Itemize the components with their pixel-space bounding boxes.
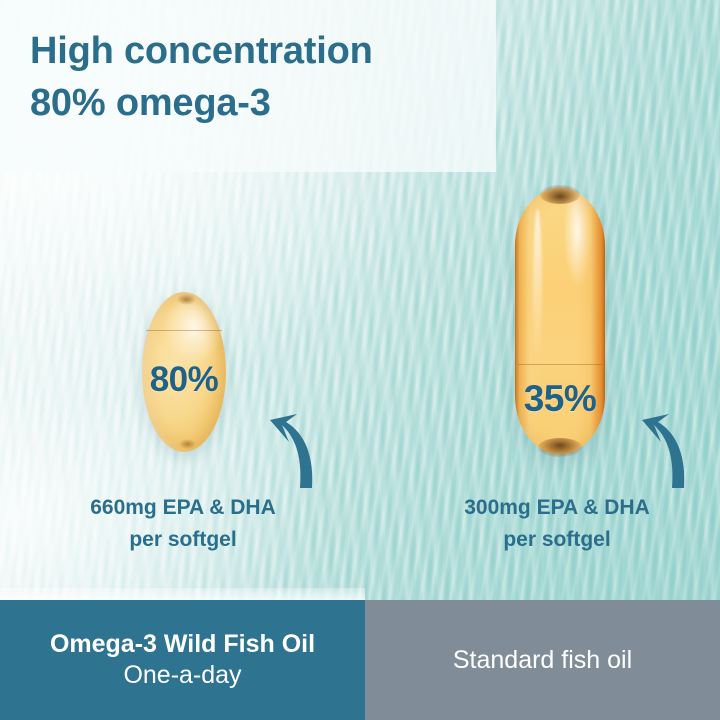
brand-banner: Omega-3 Wild Fish Oil One-a-day bbox=[0, 600, 365, 720]
percent-label-right: 35% bbox=[515, 378, 605, 420]
capsule-large-bottom-cap bbox=[538, 438, 581, 457]
capsule-small-seam bbox=[146, 330, 222, 331]
claim-right-line-1: 300mg EPA & DHA bbox=[402, 492, 712, 524]
claim-right-line-2: per softgel bbox=[402, 524, 712, 556]
comparison-label: Standard fish oil bbox=[453, 646, 632, 675]
curved-up-arrow-icon-left bbox=[256, 400, 326, 488]
capsule-large-top-cap bbox=[540, 185, 580, 204]
headline-panel: High concentration 80% omega-3 bbox=[0, 0, 496, 172]
capsule-small-top-nub bbox=[177, 294, 195, 305]
pre-banner-highlight-strip bbox=[0, 588, 365, 600]
capsule-large-glare bbox=[533, 209, 542, 369]
infographic-canvas: High concentration 80% omega-3 80% 35% 6… bbox=[0, 0, 720, 720]
percent-label-left: 80% bbox=[142, 360, 226, 400]
capsule-large-seam bbox=[518, 364, 603, 365]
headline-line-1: High concentration bbox=[30, 26, 496, 78]
brand-name: Omega-3 Wild Fish Oil bbox=[50, 629, 315, 660]
claim-text-left: 660mg EPA & DHA per softgel bbox=[28, 492, 338, 555]
claim-text-right: 300mg EPA & DHA per softgel bbox=[402, 492, 712, 555]
bottom-banner-strip: Omega-3 Wild Fish Oil One-a-day Standard… bbox=[0, 600, 720, 720]
capsule-small-bottom-nub bbox=[179, 439, 196, 449]
claim-left-line-2: per softgel bbox=[28, 524, 338, 556]
brand-tagline: One-a-day bbox=[123, 659, 241, 692]
headline-line-2: 80% omega-3 bbox=[30, 78, 496, 130]
comparison-banner: Standard fish oil bbox=[365, 600, 720, 720]
claim-left-line-1: 660mg EPA & DHA bbox=[28, 492, 338, 524]
curved-up-arrow-icon-right bbox=[628, 400, 698, 488]
